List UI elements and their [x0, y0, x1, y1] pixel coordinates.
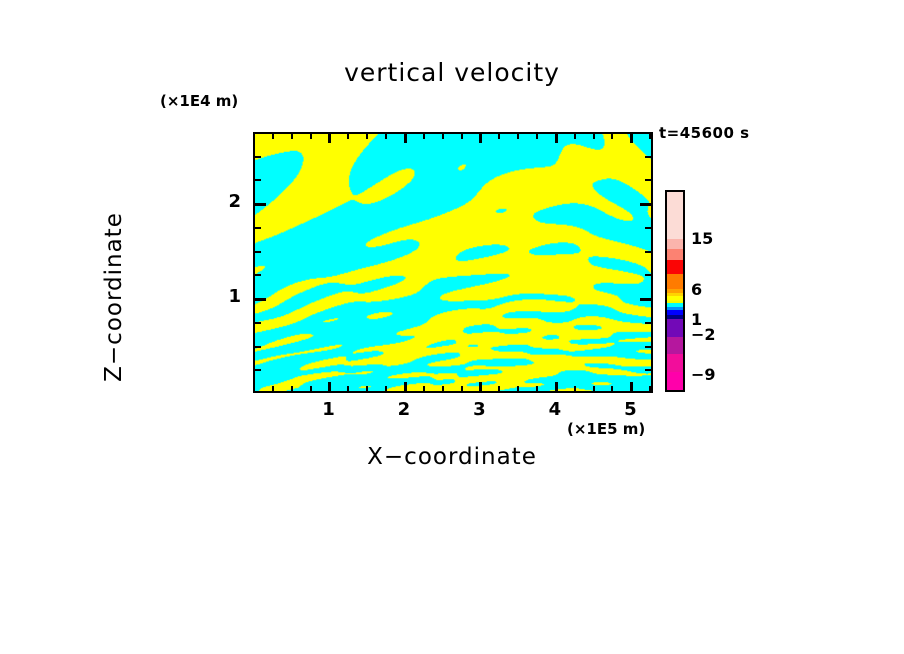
- axis-tick: [640, 298, 651, 301]
- colorbar-band: [667, 319, 683, 337]
- velocity-field-heatmap: [255, 134, 651, 391]
- axis-tick: [255, 227, 261, 229]
- axis-tick: [347, 386, 349, 391]
- axis-tick: [645, 346, 651, 348]
- x-tick-label: 1: [313, 399, 343, 420]
- axis-tick: [645, 322, 651, 324]
- axis-tick: [630, 134, 633, 143]
- axis-tick: [630, 382, 633, 391]
- axis-tick: [640, 203, 651, 206]
- axis-tick: [479, 134, 482, 143]
- axis-tick: [442, 134, 444, 139]
- axis-tick: [255, 346, 261, 348]
- axis-tick: [255, 179, 261, 181]
- x-tick-label: 5: [615, 399, 645, 420]
- axis-tick: [498, 386, 500, 391]
- axis-tick: [291, 134, 293, 139]
- axis-tick: [423, 386, 425, 391]
- axis-tick: [461, 386, 463, 391]
- axis-tick: [479, 382, 482, 391]
- axis-tick: [255, 156, 261, 158]
- x-tick-label: 3: [464, 399, 494, 420]
- colorbar-band: [667, 337, 683, 355]
- colorbar-band: [667, 260, 683, 274]
- axis-tick: [461, 134, 463, 139]
- axis-tick: [328, 382, 331, 391]
- axis-tick: [498, 134, 500, 139]
- axis-tick: [255, 203, 266, 206]
- axis-tick: [555, 134, 558, 143]
- axis-tick: [272, 386, 274, 391]
- axis-tick: [272, 134, 274, 139]
- time-annotation: t=45600 s: [659, 124, 750, 142]
- y-tick-label: 2: [211, 191, 241, 212]
- axis-tick: [310, 386, 312, 391]
- y-tick-label: 1: [211, 286, 241, 307]
- x-axis-title: X−coordinate: [0, 444, 904, 470]
- colorbar-band: [667, 274, 683, 289]
- colorbar-band: [667, 354, 683, 372]
- y-axis-title: Z−coordinate: [101, 177, 127, 417]
- axis-tick: [645, 251, 651, 253]
- axis-tick: [404, 134, 407, 143]
- axis-tick: [593, 134, 595, 139]
- x-tick-label: 2: [389, 399, 419, 420]
- axis-tick: [385, 386, 387, 391]
- colorbar-label: 6: [691, 280, 702, 299]
- axis-tick: [517, 134, 519, 139]
- axis-tick: [611, 134, 613, 139]
- x-tick-label: 4: [540, 399, 570, 420]
- x-axis-units-label: (×1E5 m): [567, 420, 645, 438]
- axis-tick: [649, 386, 651, 391]
- axis-tick: [310, 134, 312, 139]
- axis-tick: [347, 134, 349, 139]
- axis-tick: [423, 134, 425, 139]
- axis-tick: [574, 386, 576, 391]
- colorbar-band: [667, 239, 683, 250]
- colorbar-label: 15: [691, 229, 713, 248]
- colorbar-band: [667, 192, 683, 239]
- axis-tick: [291, 386, 293, 391]
- axis-tick: [645, 369, 651, 371]
- colorbar-label: −2: [691, 325, 716, 344]
- axis-tick: [385, 134, 387, 139]
- axis-tick: [645, 156, 651, 158]
- axis-tick: [574, 134, 576, 139]
- axis-tick: [645, 274, 651, 276]
- axis-tick: [442, 386, 444, 391]
- axis-tick: [404, 382, 407, 391]
- y-axis-units-label: (×1E4 m): [160, 92, 238, 110]
- axis-tick: [328, 134, 331, 143]
- axis-tick: [366, 386, 368, 391]
- page-title: vertical velocity: [0, 58, 904, 87]
- axis-tick: [536, 134, 538, 139]
- axis-tick: [555, 382, 558, 391]
- colorbar-label: −9: [691, 365, 716, 384]
- plot-area: [253, 132, 653, 393]
- axis-tick: [255, 322, 261, 324]
- colorbar: [665, 190, 685, 392]
- axis-tick: [517, 386, 519, 391]
- colorbar-band: [667, 372, 683, 390]
- axis-tick: [593, 386, 595, 391]
- axis-tick: [611, 386, 613, 391]
- axis-tick: [255, 298, 266, 301]
- colorbar-band: [667, 249, 683, 260]
- axis-tick: [255, 251, 261, 253]
- axis-tick: [645, 179, 651, 181]
- axis-tick: [645, 227, 651, 229]
- axis-tick: [536, 386, 538, 391]
- axis-tick: [366, 134, 368, 139]
- axis-tick: [255, 369, 261, 371]
- axis-tick: [649, 134, 651, 139]
- axis-tick: [255, 274, 261, 276]
